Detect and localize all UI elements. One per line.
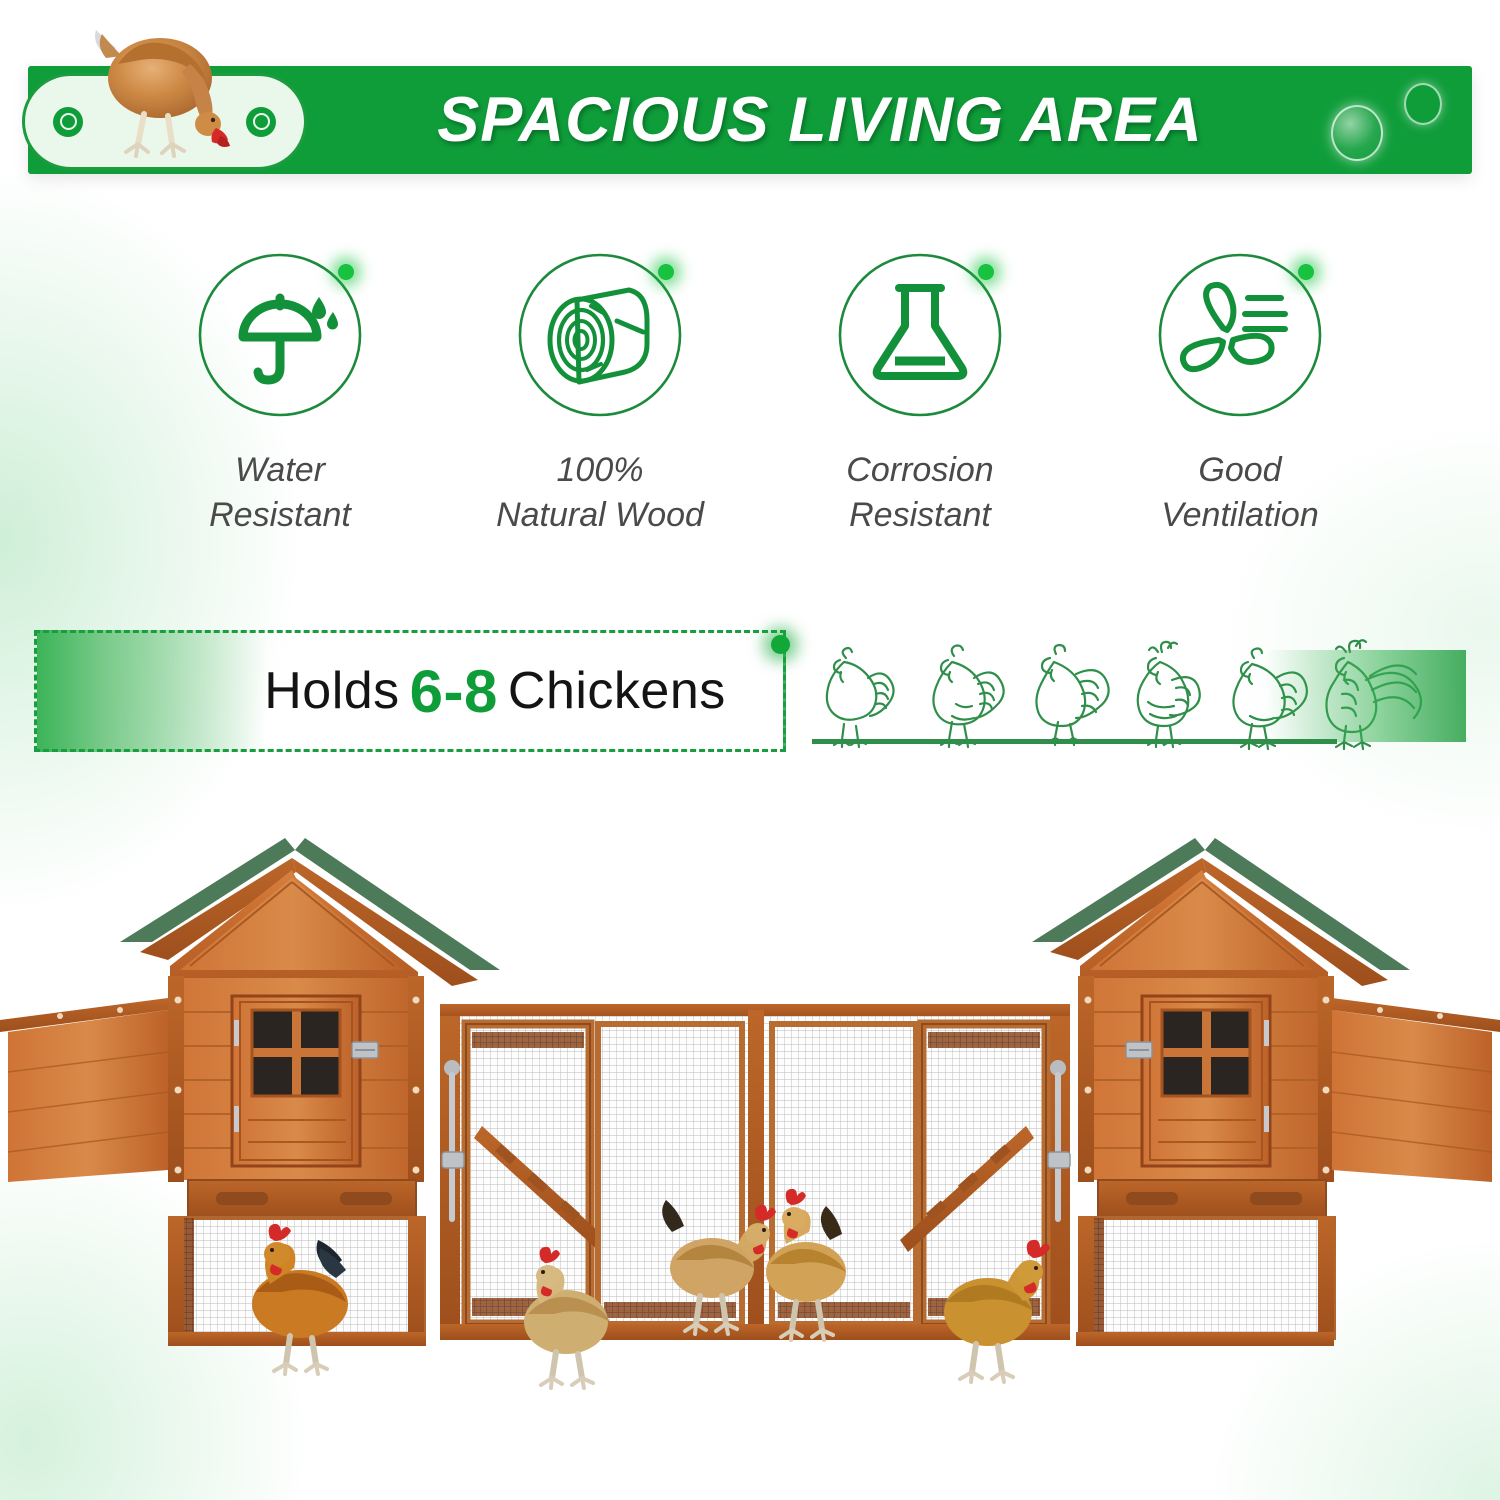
feature-water-resistant: Water Resistant <box>120 248 440 548</box>
capacity-count: 6-8 <box>410 657 498 726</box>
capacity-gradient-block <box>1266 650 1466 742</box>
feature-label-4: Good Ventilation <box>1161 448 1319 538</box>
feature-label-2: 100% Natural Wood <box>496 448 704 538</box>
feature-glow-dot-1 <box>338 264 354 280</box>
chicken-coop-illustration <box>0 820 1500 1460</box>
right-door-latch <box>1126 1042 1152 1058</box>
capacity-prefix: Holds <box>264 661 399 721</box>
feature-glow-dot-2 <box>658 264 674 280</box>
feature-glow-dot-3 <box>978 264 994 280</box>
chicken-ground-line <box>812 739 1337 744</box>
left-door-latch <box>352 1042 378 1058</box>
feature-list: Water Resistant <box>120 248 1400 548</box>
capacity-banner: Holds 6-8 Chickens <box>34 630 1466 760</box>
filled-bubble-icon <box>1331 105 1383 161</box>
right-nesting-box <box>1332 998 1500 1182</box>
product-photo <box>0 820 1500 1460</box>
header-chicken-photo <box>82 2 242 170</box>
capacity-text: Holds 6-8 Chickens <box>34 630 786 752</box>
feature-ring-3 <box>833 248 1007 422</box>
feature-ring-2 <box>513 248 687 422</box>
feature-ring-1 <box>193 248 367 422</box>
feature-ring-4 <box>1153 248 1327 422</box>
infographic-page: SPACIOUS LIVING AREA <box>0 0 1500 1500</box>
left-eyelet-icon <box>53 107 83 137</box>
feature-corrosion-resistant: Corrosion Resistant <box>760 248 1080 548</box>
chicken-silhouette-row <box>812 634 1466 756</box>
feature-label-3: Corrosion Resistant <box>846 448 993 538</box>
feature-label-1: Water Resistant <box>209 448 351 538</box>
right-eyelet-icon <box>246 107 276 137</box>
outline-bubble-icon <box>1404 83 1442 125</box>
right-under-run <box>1076 1216 1334 1346</box>
capacity-glow-dot-icon <box>771 635 790 654</box>
feature-natural-wood: 100% Natural Wood <box>440 248 760 548</box>
page-title: SPACIOUS LIVING AREA <box>330 68 1310 172</box>
feature-glow-dot-4 <box>1298 264 1314 280</box>
capacity-suffix: Chickens <box>508 661 726 721</box>
feature-good-ventilation: Good Ventilation <box>1080 248 1400 548</box>
left-nesting-box <box>0 998 168 1182</box>
